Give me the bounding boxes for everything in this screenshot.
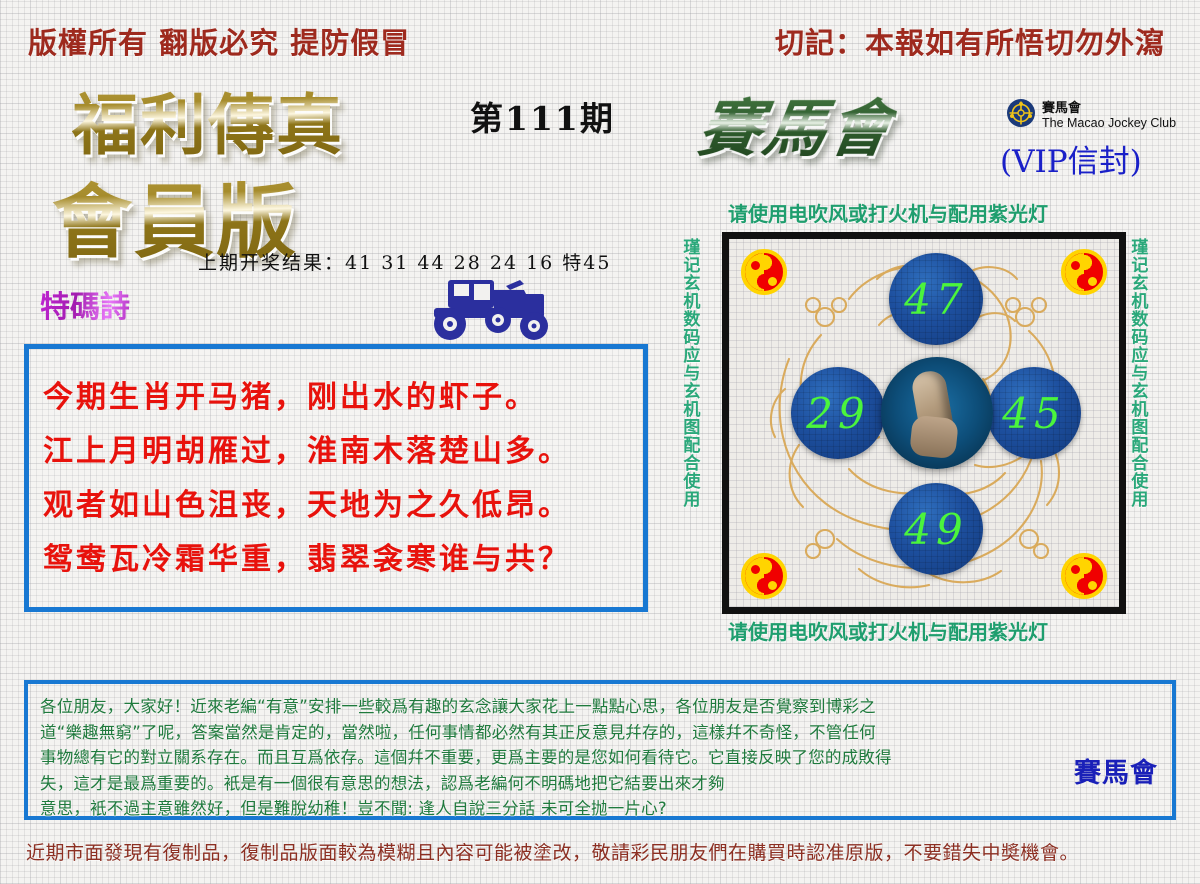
usage-hint-top: 请使用电吹风或打火机与配用紫光灯 xyxy=(728,198,1048,227)
vip-envelope-label: (VIP信封) xyxy=(1000,136,1142,181)
side-note-right: 瑾记玄机数码应与玄机图配合使用 xyxy=(1128,238,1145,618)
poem-line: 鸳鸯瓦冷霜华重，翡翠衾寒谁与共？ xyxy=(43,533,633,587)
message-line: 各位朋友，大家好！近來老編“有意”安排一些較爲有趣的玄念讓大家花上一點點心思，各… xyxy=(40,694,892,720)
editor-message-box: 各位朋友，大家好！近來老編“有意”安排一些較爲有趣的玄念讓大家花上一點點心思，各… xyxy=(24,680,1176,820)
vintage-car-icon xyxy=(420,268,560,351)
poem-line: 观者如山色沮丧，天地为之久低昂。 xyxy=(43,479,633,533)
jockey-club-logo-text: 賽馬會 xyxy=(693,78,902,168)
mystic-number-panel: 47 29 45 49 xyxy=(722,232,1126,614)
message-line: 事物總有它的對立關系存在。而且互爲依存。這個幷不重要，更爲主要的是您如何看待它。… xyxy=(40,745,892,771)
lucky-number-ball-right: 45 xyxy=(987,367,1081,459)
lucky-number-ball-left: 29 xyxy=(791,367,885,459)
anti-counterfeit-notice: 近期市面發現有復制品，復制品版面較為模糊且內容可能被塗改，敬請彩民朋友們在購買時… xyxy=(26,838,1079,865)
macao-jockey-club-name-en: The Macao Jockey Club xyxy=(1042,116,1176,130)
yin-yang-icon xyxy=(741,553,787,599)
message-line: 失，這才是最爲重要的。衹是有一個很有意思的想法，認爲老編何不明碼地把它結要出來才… xyxy=(40,771,892,797)
poem-section-label: 特碼詩 xyxy=(40,282,130,326)
poem-box: 今期生肖开马猪，刚出水的虾子。 江上月明胡雁过，淮南木落楚山多。 观者如山色沮丧… xyxy=(24,344,648,612)
macao-jockey-club-badge: 賽馬會 The Macao Jockey Club xyxy=(1006,98,1176,133)
yin-yang-icon xyxy=(741,249,787,295)
yin-yang-icon xyxy=(1061,553,1107,599)
message-line: 道“樂趣無窮”了呢，答案當然是肯定的，當然啦，任何事情都必然有其正反意見幷存的，… xyxy=(40,720,892,746)
poem-line: 今期生肖开马猪，刚出水的虾子。 xyxy=(43,371,633,425)
poem-line: 江上月明胡雁过，淮南木落楚山多。 xyxy=(43,425,633,479)
message-signature: 賽馬會 xyxy=(1074,751,1158,790)
macao-jockey-club-icon xyxy=(1006,98,1036,133)
yin-yang-icon xyxy=(1061,249,1107,295)
pointing-finger-icon xyxy=(881,357,993,469)
lucky-number-ball-bottom: 49 xyxy=(889,483,983,575)
secrecy-notice: 切記：本報如有所悟切勿外瀉 xyxy=(775,20,1165,62)
lucky-number-ball-top: 47 xyxy=(889,253,983,345)
side-note-left: 瑾记玄机数码应与玄机图配合使用 xyxy=(680,238,697,618)
copyright-notice: 版權所有 翻版必究 提防假冒 xyxy=(28,20,410,62)
issue-number: 第111期 xyxy=(470,92,615,140)
usage-hint-bottom: 请使用电吹风或打火机与配用紫光灯 xyxy=(728,616,1048,645)
message-line: 意思，衹不過主意雖然好，但是難脫幼稚！豈不聞: 逢人自說三分話 未可全抛一片心? xyxy=(40,796,892,822)
macao-jockey-club-name-cn: 賽馬會 xyxy=(1042,101,1176,116)
page-title-line1: 福利傳真 xyxy=(72,72,344,168)
